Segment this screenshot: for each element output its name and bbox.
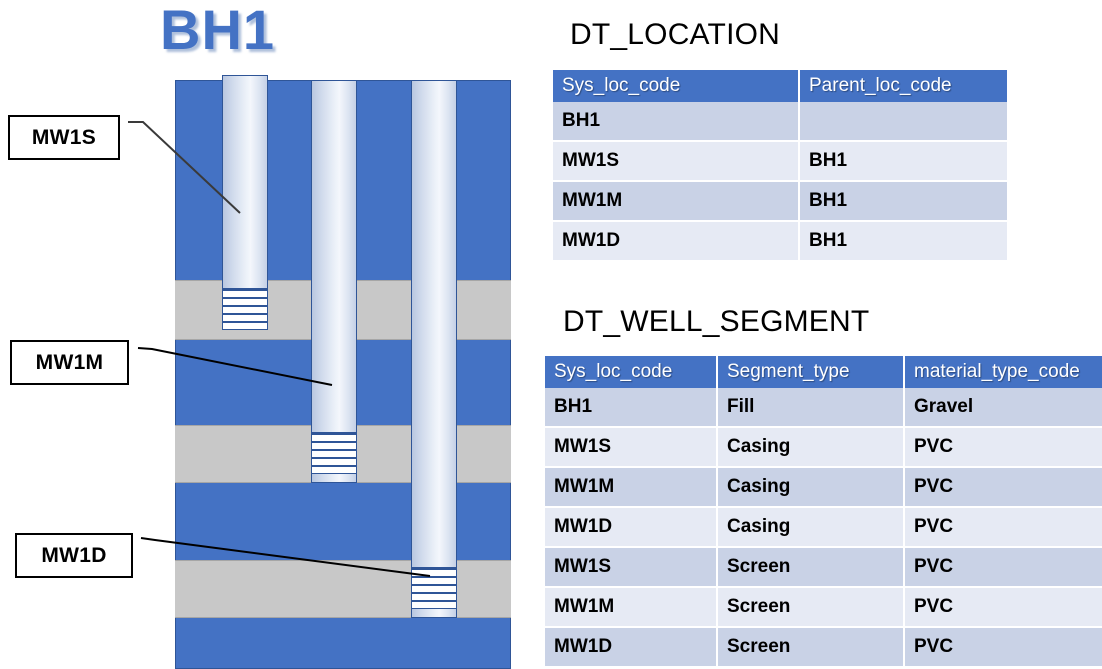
gray-layer-deep (175, 560, 511, 618)
table-row[interactable]: MW1D Casing PVC (545, 508, 1102, 548)
screen-mw1m (311, 432, 357, 474)
column-header-segment-type[interactable]: Segment_type (718, 356, 905, 388)
cell-sys-loc-code: MW1M (553, 182, 800, 222)
cell-material-type-code: PVC (905, 468, 1102, 508)
casing-mw1d (411, 80, 457, 618)
cell-sys-loc-code: MW1D (545, 628, 718, 668)
table-title-location: DT_LOCATION (570, 18, 780, 52)
cell-segment-type: Screen (718, 548, 905, 588)
cell-segment-type: Screen (718, 588, 905, 628)
table-row[interactable]: MW1S Casing PVC (545, 428, 1102, 468)
page-title: BH1 (160, 2, 275, 58)
cell-sys-loc-code: MW1D (553, 222, 800, 262)
well-cross-section-diagram (175, 80, 511, 669)
table-header-row: Sys_loc_code Parent_loc_code (553, 70, 1007, 102)
cell-sys-loc-code: MW1M (545, 588, 718, 628)
cell-material-type-code: Gravel (905, 388, 1102, 428)
column-header-sys-loc-code[interactable]: Sys_loc_code (553, 70, 800, 102)
cell-segment-type: Casing (718, 508, 905, 548)
column-header-material-type-code[interactable]: material_type_code (905, 356, 1102, 388)
table-dt-well-segment: Sys_loc_code Segment_type material_type_… (545, 356, 1102, 668)
table-row[interactable]: MW1S Screen PVC (545, 548, 1102, 588)
table-row[interactable]: MW1M Casing PVC (545, 468, 1102, 508)
callout-mw1s-label: MW1S (32, 126, 96, 150)
table-row[interactable]: MW1M Screen PVC (545, 588, 1102, 628)
table-row[interactable]: MW1D Screen PVC (545, 628, 1102, 668)
cell-sys-loc-code: MW1S (545, 548, 718, 588)
cell-segment-type: Casing (718, 428, 905, 468)
callout-mw1m: MW1M (10, 340, 129, 385)
callout-mw1m-label: MW1M (36, 351, 104, 375)
column-header-parent-loc-code[interactable]: Parent_loc_code (800, 70, 1007, 102)
cell-material-type-code: PVC (905, 508, 1102, 548)
casing-mw1m (311, 80, 357, 483)
cell-segment-type: Screen (718, 628, 905, 668)
cell-sys-loc-code: MW1M (545, 468, 718, 508)
cell-parent-loc-code: BH1 (800, 182, 1007, 222)
table-row[interactable]: MW1D BH1 (553, 222, 1007, 262)
table-row[interactable]: BH1 Fill Gravel (545, 388, 1102, 428)
table-row[interactable]: MW1M BH1 (553, 182, 1007, 222)
cell-material-type-code: PVC (905, 628, 1102, 668)
cell-sys-loc-code: MW1D (545, 508, 718, 548)
callout-mw1d-label: MW1D (41, 544, 106, 568)
cell-material-type-code: PVC (905, 548, 1102, 588)
table-title-well-segment: DT_WELL_SEGMENT (563, 305, 869, 339)
callout-mw1d: MW1D (15, 533, 133, 578)
cell-sys-loc-code: MW1S (545, 428, 718, 468)
cell-segment-type: Fill (718, 388, 905, 428)
callout-mw1s: MW1S (8, 115, 120, 160)
column-header-sys-loc-code[interactable]: Sys_loc_code (545, 356, 718, 388)
screen-mw1d (411, 567, 457, 609)
table-row[interactable]: MW1S BH1 (553, 142, 1007, 182)
cell-sys-loc-code: BH1 (545, 388, 718, 428)
table-row[interactable]: BH1 (553, 102, 1007, 142)
cell-sys-loc-code: MW1S (553, 142, 800, 182)
cell-material-type-code: PVC (905, 428, 1102, 468)
cell-segment-type: Casing (718, 468, 905, 508)
cell-sys-loc-code: BH1 (553, 102, 800, 142)
cell-parent-loc-code: BH1 (800, 222, 1007, 262)
screen-mw1s (222, 288, 268, 330)
table-dt-location: Sys_loc_code Parent_loc_code BH1 MW1S BH… (553, 70, 1007, 262)
cell-material-type-code: PVC (905, 588, 1102, 628)
table-header-row: Sys_loc_code Segment_type material_type_… (545, 356, 1102, 388)
cell-parent-loc-code: BH1 (800, 142, 1007, 182)
cell-parent-loc-code (800, 102, 1007, 142)
